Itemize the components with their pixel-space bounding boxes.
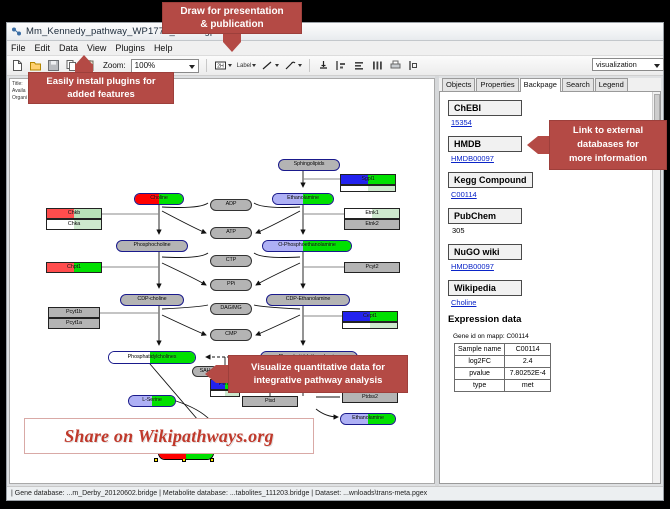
cell-value: met: [505, 380, 551, 392]
table-row: log2FC 2.4: [455, 356, 551, 368]
toolbar-separator: [309, 59, 310, 72]
db-name-wikipedia: Wikipedia: [448, 280, 522, 296]
gene-label: Etnk1: [365, 211, 378, 216]
table-row: type met: [455, 380, 551, 392]
zoom-combo[interactable]: 100%: [131, 59, 199, 73]
node-label: Sphingolipids: [294, 162, 325, 167]
align-bottom-icon[interactable]: [317, 59, 330, 72]
node-ctp[interactable]: CTP: [210, 255, 252, 267]
callout-links: Link to external databases for more info…: [549, 120, 667, 170]
callout-line: & publication: [200, 18, 263, 31]
bracket-icon[interactable]: [407, 59, 420, 72]
db-block-pubchem: PubChem 305: [448, 206, 660, 235]
table-row: pvalue 7.80252E-4: [455, 368, 551, 380]
gene-cept1[interactable]: Cept1: [342, 311, 398, 322]
node-label: Phosphatidylcholines: [128, 355, 177, 360]
gene-label: Sgpl1: [361, 177, 374, 182]
node-phosphocholine[interactable]: Phosphocholine: [116, 240, 188, 252]
gene-label: Chka: [68, 222, 80, 227]
node-label: Phosphocholine: [134, 243, 171, 248]
gene-fill: [343, 323, 397, 328]
gene-chka[interactable]: Chka: [46, 219, 102, 230]
callout-draw: Draw for presentation & publication: [162, 2, 302, 34]
callout-line: Link to external: [573, 124, 643, 138]
svg-text:2H: 2H: [217, 64, 224, 70]
visualization-value: visualization: [596, 60, 637, 69]
gene-etnk1[interactable]: Etnk1: [344, 208, 400, 219]
chevron-down-icon: [228, 64, 232, 67]
gene-label: Pisd: [265, 399, 275, 404]
node-label: CDP-choline: [137, 297, 166, 302]
table-row: Sample name C00114: [455, 344, 551, 356]
gene-label: Pcyt1b: [66, 310, 82, 315]
receptor-tool[interactable]: [284, 59, 302, 72]
node-atp[interactable]: ATP: [210, 227, 252, 239]
gene-sgpl1-second-row[interactable]: [340, 185, 396, 192]
callout-draw-stem: [223, 34, 241, 42]
datanode-tool[interactable]: 2H: [214, 59, 232, 72]
callout-line: Easily install plugins for: [46, 75, 155, 88]
menu-item-plugins[interactable]: Plugins: [115, 43, 145, 53]
db-value-pubchem: 305: [452, 226, 660, 235]
callout-line: databases for: [577, 138, 639, 152]
callout-visualize-arrow: [205, 365, 216, 383]
align-left-icon[interactable]: [335, 59, 348, 72]
line-tool-icon: [261, 59, 274, 72]
gene-chkb[interactable]: Chkb: [46, 208, 102, 219]
node-label: Ethanolamine: [287, 196, 319, 201]
gene-pcyt1a[interactable]: Pcyt1a: [48, 318, 100, 329]
node-label: Choline: [150, 196, 168, 201]
node-label: ADP: [226, 202, 237, 207]
chevron-down-icon: [189, 65, 195, 69]
node-ppi[interactable]: PPi: [210, 279, 252, 291]
tab-search[interactable]: Search: [562, 78, 594, 91]
node-dag-mg[interactable]: DAG/MG: [210, 303, 252, 315]
gene-label: Ptdss2: [362, 395, 378, 400]
gene-pcyt1b[interactable]: Pcyt1b: [48, 307, 100, 318]
gene-label: Chpt1: [67, 265, 81, 270]
cell-value: C00114: [505, 344, 551, 356]
db-link-nugo[interactable]: HMDB00097: [451, 262, 660, 271]
app-icon: [11, 26, 22, 37]
node-label: L-Serine: [142, 398, 162, 403]
distribute-icon[interactable]: [353, 59, 366, 72]
callout-line: Draw for presentation: [180, 5, 283, 18]
gene-label: Etnk2: [365, 222, 378, 227]
cell-value: 2.4: [505, 356, 551, 368]
db-link-wikipedia[interactable]: Choline: [451, 298, 660, 307]
tab-objects[interactable]: Objects: [442, 78, 475, 91]
tab-backpage[interactable]: Backpage: [520, 78, 561, 92]
gene-label: Pcyt2: [366, 265, 379, 270]
line-tool[interactable]: [261, 59, 279, 72]
callout-visualize: Visualize quantitative data for integrat…: [228, 355, 408, 393]
callout-line: added features: [67, 88, 135, 101]
node-cdp-choline[interactable]: CDP-choline: [120, 294, 184, 306]
datanode-icon: 2H: [214, 59, 227, 72]
tab-legend[interactable]: Legend: [595, 78, 628, 91]
gene-pcyt2[interactable]: Pcyt2: [344, 262, 400, 273]
gene-etnk2[interactable]: Etnk2: [344, 219, 400, 230]
node-o-phosphoethanolamine[interactable]: O-Phosphoethanolamine: [262, 240, 352, 252]
print-icon[interactable]: [389, 59, 402, 72]
gene-ptdss2[interactable]: Ptdss2: [342, 392, 398, 403]
gene-id-line: Gene id on mapp: C00114: [453, 333, 660, 340]
db-block-kegg: Kegg Compound C00114: [448, 170, 660, 199]
gene-label: Chkb: [68, 211, 80, 216]
share-banner-text: Share on Wikipathways.org: [64, 426, 274, 447]
db-name-pubchem: PubChem: [448, 208, 522, 224]
receptor-tool-icon: [284, 59, 297, 72]
open-folder-icon[interactable]: [29, 59, 42, 72]
gene-chpt1[interactable]: Chpt1: [46, 262, 102, 273]
chevron-down-icon: [298, 64, 302, 67]
menu-bar: File Edit Data View Plugins Help: [7, 41, 663, 56]
node-label: Ethanolamine: [352, 416, 384, 421]
node-label: CDP-Ethanolamine: [286, 297, 331, 302]
node-label: DAG/MG: [220, 306, 241, 311]
node-sphingolipids[interactable]: Sphingolipids: [278, 159, 340, 171]
label-tool[interactable]: Label: [237, 63, 257, 69]
cell-key: pvalue: [455, 368, 505, 380]
expression-data-table: Sample name C00114 log2FC 2.4 pvalue 7.8…: [454, 343, 551, 392]
node-label: PPi: [227, 282, 235, 287]
callout-line: integrative pathway analysis: [254, 374, 383, 387]
callout-plugins-arrow: [75, 55, 93, 65]
cell-key: log2FC: [455, 356, 505, 368]
save-icon[interactable]: [47, 59, 60, 72]
expression-data-title: Expression data: [448, 314, 660, 325]
tab-properties[interactable]: Properties: [476, 78, 518, 91]
db-name-nugo: NuGO wiki: [448, 244, 522, 260]
node-ethanolamine-right[interactable]: Ethanolamine: [340, 413, 396, 425]
status-bar: | Gene database: ...m_Derby_20120602.bri…: [7, 486, 663, 500]
visualization-combo[interactable]: visualization: [592, 58, 664, 71]
db-block-wikipedia: Wikipedia Choline: [448, 278, 660, 307]
zoom-label: Zoom:: [103, 61, 126, 70]
menu-item-help[interactable]: Help: [154, 43, 173, 53]
gene-fill: [341, 186, 395, 191]
db-link-kegg[interactable]: C00114: [451, 190, 660, 199]
share-banner: Share on Wikipathways.org: [24, 418, 314, 454]
node-adp[interactable]: ADP: [210, 199, 252, 211]
callout-draw-arrow: [223, 42, 241, 52]
screenshot-root: Mm_Kennedy_pathway_WP1771_45176.gpml Fil…: [0, 0, 670, 509]
new-file-icon[interactable]: [11, 59, 24, 72]
callout-line: Visualize quantitative data for: [251, 361, 385, 374]
callout-plugins: Easily install plugins for added feature…: [28, 72, 174, 104]
cell-key: Sample name: [455, 344, 505, 356]
node-label: O-Phosphoethanolamine: [278, 243, 336, 248]
menu-item-data[interactable]: Data: [59, 43, 78, 53]
gene-label: Pcyt1a: [66, 321, 82, 326]
status-text: | Gene database: ...m_Derby_20120602.bri…: [11, 490, 427, 497]
node-choline-top[interactable]: Choline: [134, 193, 184, 205]
node-l-serine-left[interactable]: L-Serine: [128, 395, 176, 407]
db-name-kegg: Kegg Compound: [448, 172, 533, 188]
node-cmp[interactable]: CMP: [210, 329, 252, 341]
gene-sgpl1[interactable]: Sgpl1: [340, 174, 396, 185]
toolbar-separator: [206, 59, 207, 72]
chevron-down-icon: [654, 64, 660, 68]
db-name-hmdb: HMDB: [448, 136, 522, 152]
callout-links-arrow: [527, 136, 538, 154]
db-block-nugo: NuGO wiki HMDB00097: [448, 242, 660, 271]
callout-line: more information: [569, 152, 647, 166]
db-name-chebi: ChEBI: [448, 100, 522, 116]
zoom-value: 100%: [135, 61, 155, 70]
node-label: CMP: [225, 332, 237, 337]
cell-key: type: [455, 380, 505, 392]
label-tool-text: Label: [237, 63, 252, 69]
chevron-down-icon: [252, 64, 256, 67]
cell-value: 7.80252E-4: [505, 368, 551, 380]
node-label: ATP: [226, 230, 236, 235]
gene-pisd[interactable]: Pisd: [242, 396, 298, 407]
side-panel-tabs: Objects Properties Backpage Search Legen…: [439, 78, 661, 92]
menu-item-view[interactable]: View: [87, 43, 106, 53]
node-label: CTP: [226, 258, 236, 263]
gene-cept1-second-row[interactable]: [342, 322, 398, 329]
node-ethanolamine-top[interactable]: Ethanolamine: [272, 193, 334, 205]
stack-icon[interactable]: [371, 59, 384, 72]
gene-label: Cept1: [363, 314, 377, 319]
chevron-down-icon: [275, 64, 279, 67]
node-cdp-ethanolamine[interactable]: CDP-Ethanolamine: [266, 294, 350, 306]
title-bar: Mm_Kennedy_pathway_WP1771_45176.gpml: [7, 23, 663, 41]
menu-item-file[interactable]: File: [11, 43, 26, 53]
menu-item-edit[interactable]: Edit: [35, 43, 51, 53]
node-phosphatidylcholines[interactable]: Phosphatidylcholines: [108, 351, 196, 364]
